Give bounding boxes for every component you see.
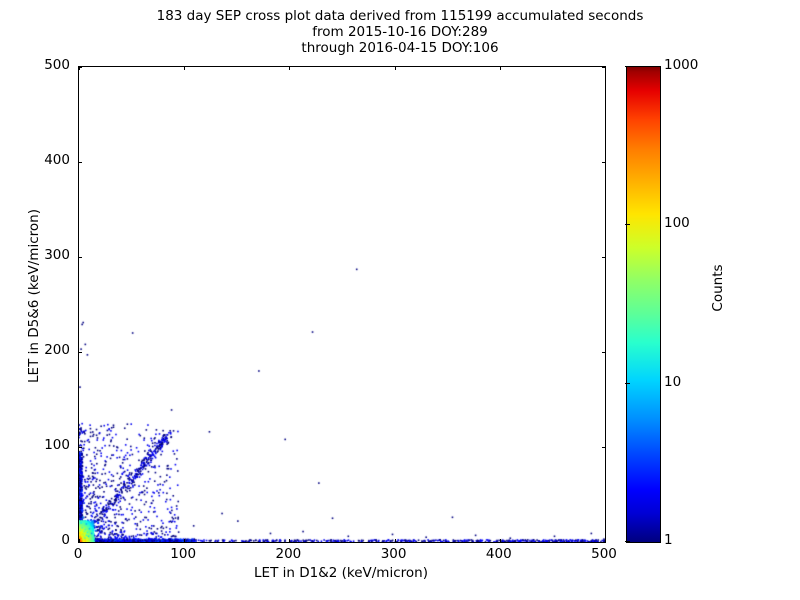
x-tick-label: 400 xyxy=(469,546,529,562)
x-tick xyxy=(184,539,185,543)
colorbar-tick-label: 1 xyxy=(664,532,673,548)
colorbar-tick-label: 100 xyxy=(664,215,690,231)
x-tick xyxy=(500,66,501,70)
y-tick xyxy=(602,542,606,543)
y-tick xyxy=(602,352,606,353)
y-tick-label: 500 xyxy=(18,57,70,73)
x-tick xyxy=(395,66,396,70)
x-tick-label: 500 xyxy=(574,546,634,562)
y-tick-label: 100 xyxy=(18,437,70,453)
y-tick xyxy=(78,542,82,543)
y-tick xyxy=(78,67,82,68)
y-tick xyxy=(602,162,606,163)
x-tick-label: 0 xyxy=(48,546,108,562)
scatter-data-layer xyxy=(79,67,605,542)
plot-title: 183 day SEP cross plot data derived from… xyxy=(0,8,800,56)
y-tick xyxy=(602,67,606,68)
colorbar-tick xyxy=(625,224,630,225)
y-tick xyxy=(602,447,606,448)
x-tick-label: 300 xyxy=(364,546,424,562)
y-tick xyxy=(78,162,82,163)
y-tick xyxy=(78,447,82,448)
y-tick xyxy=(602,257,606,258)
plot-axes xyxy=(78,66,606,543)
plot-title-line-2: from 2015-10-16 DOY:289 xyxy=(0,24,800,40)
x-tick xyxy=(395,539,396,543)
colorbar-label: Counts xyxy=(710,208,726,368)
colorbar-tick xyxy=(625,541,630,542)
x-tick xyxy=(289,66,290,70)
y-axis-label: LET in D5&6 (keV/micron) xyxy=(26,156,42,436)
x-tick xyxy=(184,66,185,70)
colorbar-tick-label: 10 xyxy=(664,374,681,390)
y-tick xyxy=(78,352,82,353)
x-tick-label: 100 xyxy=(153,546,213,562)
x-axis-label: LET in D1&2 (keV/micron) xyxy=(78,565,604,581)
colorbar xyxy=(626,66,661,543)
colorbar-tick xyxy=(625,66,630,67)
y-tick-label: 0 xyxy=(18,532,70,548)
y-tick xyxy=(78,257,82,258)
colorbar-tick xyxy=(625,383,630,384)
x-tick xyxy=(289,539,290,543)
plot-title-line-1: 183 day SEP cross plot data derived from… xyxy=(0,8,800,24)
colorbar-tick-label: 1000 xyxy=(664,57,698,73)
x-tick-label: 200 xyxy=(258,546,318,562)
plot-title-line-3: through 2016-04-15 DOY:106 xyxy=(0,40,800,56)
figure-canvas: 183 day SEP cross plot data derived from… xyxy=(0,0,800,600)
x-tick xyxy=(500,539,501,543)
